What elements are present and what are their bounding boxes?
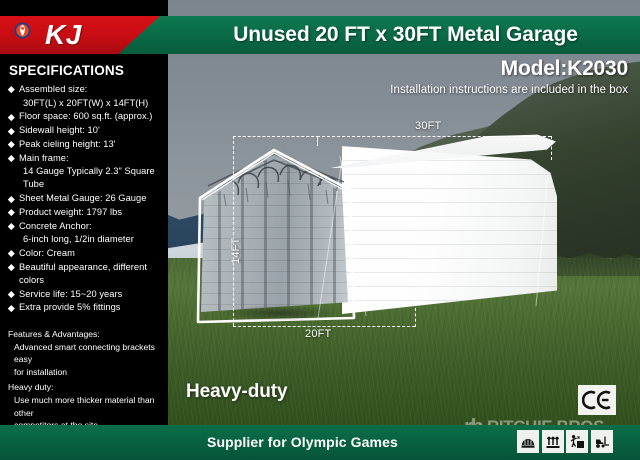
spec-item: Floor space: 600 sq.ft. (approx.)	[6, 110, 168, 123]
specifications-list: Assembled size: 30FT(L) x 20FT(W) x 14FT…	[6, 83, 168, 315]
dim-line-top-left	[233, 136, 319, 137]
features-body-line1: Advanced smart connecting brackets easy	[8, 341, 168, 366]
spec-item: Sheet Metal Gauge: 26 Gauge	[6, 192, 168, 205]
bullet-diamond-icon	[8, 128, 14, 134]
spec-item: Main frame: 14 Gauge Typically 2.3" Squa…	[6, 152, 168, 192]
dim-label-width: 20FT	[305, 328, 331, 340]
features-block: Features & Advantages: Advanced smart co…	[8, 328, 168, 432]
bullet-diamond-icon	[8, 291, 14, 297]
heavy-duty-callout: Heavy-duty	[186, 381, 287, 403]
dim-label-length: 30FT	[415, 120, 441, 132]
spec-label: Color: Cream	[19, 248, 75, 258]
spec-item: Beautiful appearance, different colors	[6, 261, 168, 287]
spec-item: Extra provide 5% fittings	[6, 301, 168, 314]
heavy-duty-heading: Heavy duty:	[8, 381, 168, 394]
spec-label: Sidewall height: 10'	[19, 125, 100, 135]
model-note: Installation instructions are included i…	[390, 84, 628, 96]
heavy-duty-body-line1: Use much more thicker material than othe…	[8, 394, 168, 419]
spec-item: Service life: 15~20 years	[6, 288, 168, 301]
bullet-diamond-icon	[8, 196, 14, 202]
bullet-diamond-icon	[8, 114, 14, 120]
dim-tick-width-right	[415, 292, 416, 327]
spec-label: Concrete Anchor:	[19, 221, 92, 231]
bullet-diamond-icon	[8, 305, 14, 311]
specifications-panel: SPECIFICATIONS Assembled size: 30FT(L) x…	[0, 0, 168, 425]
spec-label: Product weight: 1797 lbs	[19, 207, 122, 217]
spec-item: Peak cieling height: 13'	[6, 138, 168, 151]
dim-line-width	[233, 326, 415, 327]
footer-bar: Supplier for Olympic Games	[0, 425, 640, 460]
model-number: Model:K2030	[501, 57, 628, 81]
supplier-text: Supplier for Olympic Games	[207, 434, 398, 450]
spec-detail: 14 Gauge Typically 2.3" Square Tube	[19, 165, 168, 192]
no-littering-icon	[566, 430, 588, 453]
spec-label: Assembled size:	[19, 84, 87, 94]
dim-line-height	[233, 136, 234, 326]
product-poster: 30FT 14FT 20FT SPECIFICATIONS Assembled …	[0, 0, 640, 460]
bullet-diamond-icon	[8, 250, 14, 256]
spec-label: Floor space: 600 sq.ft. (approx.)	[19, 111, 152, 121]
ce-mark-icon	[578, 385, 616, 415]
spec-label: Beautiful appearance, different colors	[19, 262, 147, 285]
spec-detail: 30FT(L) x 20FT(W) x 14FT(H)	[19, 96, 168, 110]
page-title: Unused 20 FT x 30FT Metal Garage	[178, 18, 633, 52]
dim-tick-length-left	[317, 136, 318, 146]
spec-label: Sheet Metal Gauge: 26 Gauge	[19, 193, 146, 203]
spec-label: Extra provide 5% fittings	[19, 302, 121, 312]
bullet-diamond-icon	[8, 264, 14, 270]
kj-circle-emblem-icon	[14, 22, 31, 39]
this-way-up-icon	[542, 430, 564, 453]
bullet-diamond-icon	[8, 155, 14, 161]
specifications-heading: SPECIFICATIONS	[9, 63, 124, 78]
shipping-icons	[517, 430, 613, 453]
bullet-diamond-icon	[8, 209, 14, 215]
dim-tick-length-right	[551, 136, 552, 160]
spec-item: Assembled size: 30FT(L) x 20FT(W) x 14FT…	[6, 83, 168, 110]
fragile-dome-icon	[517, 430, 539, 453]
bullet-diamond-icon	[8, 223, 14, 229]
dimension-annotation: 30FT 14FT 20FT	[233, 132, 551, 337]
bullet-diamond-icon	[8, 86, 14, 92]
header-banner: KJ Unused 20 FT x 30FT Metal Garage	[0, 16, 640, 54]
spec-item: Color: Cream	[6, 247, 168, 260]
spec-label: Peak cieling height: 13'	[19, 139, 116, 149]
spec-item: Product weight: 1797 lbs	[6, 206, 168, 219]
brand-name: KJ	[45, 18, 82, 52]
forklift-icon	[591, 430, 613, 453]
features-body-line2: for installation	[8, 366, 168, 379]
dim-label-height: 14FT	[230, 238, 242, 264]
dim-line-length	[317, 136, 551, 137]
spec-item: Sidewall height: 10'	[6, 124, 168, 137]
spec-detail: 6-inch long, 1/2in diameter	[19, 233, 168, 247]
features-heading: Features & Advantages:	[8, 328, 168, 341]
spec-item: Concrete Anchor: 6-inch long, 1/2in diam…	[6, 220, 168, 247]
spec-label: Service life: 15~20 years	[19, 289, 122, 299]
spec-label: Main frame:	[19, 153, 69, 163]
bullet-diamond-icon	[8, 141, 14, 147]
